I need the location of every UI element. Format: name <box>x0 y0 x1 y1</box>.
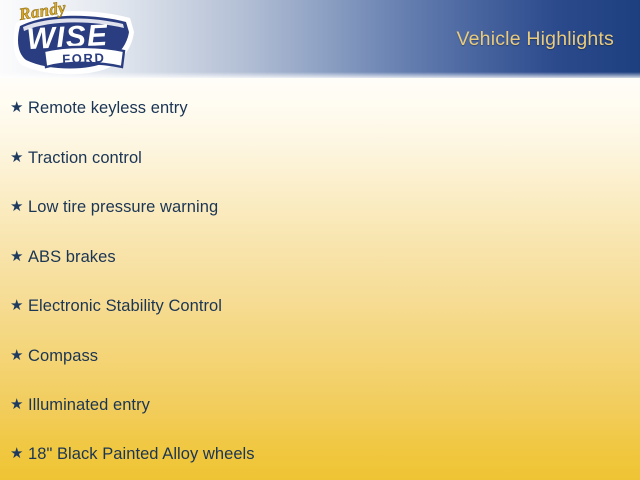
star-bullet-icon: ★ <box>10 249 28 264</box>
star-bullet-icon: ★ <box>10 298 28 313</box>
list-item: ★ Remote keyless entry <box>10 96 188 120</box>
list-item: ★ ABS brakes <box>10 245 116 269</box>
list-item-label: Remote keyless entry <box>28 99 188 118</box>
list-item-label: Illuminated entry <box>28 396 150 415</box>
list-item: ★ Traction control <box>10 146 142 170</box>
vehicle-highlights-page: WISE FORD Randy Vehicle Highlights ★ Rem… <box>0 0 640 480</box>
list-item-label: ABS brakes <box>28 248 116 267</box>
list-item: ★ Compass <box>10 344 98 368</box>
vehicle-highlights-panel: ★ Remote keyless entry ★ Traction contro… <box>0 78 640 480</box>
list-item-label: Traction control <box>28 149 142 168</box>
page-title: Vehicle Highlights <box>456 28 614 51</box>
list-item: ★ Low tire pressure warning <box>10 195 218 219</box>
list-item: ★ Illuminated entry <box>10 393 150 417</box>
page-header: WISE FORD Randy Vehicle Highlights <box>0 0 640 78</box>
list-item: ★ 18" Black Painted Alloy wheels <box>10 442 255 466</box>
list-item-label: Compass <box>28 347 98 366</box>
list-item-label: Electronic Stability Control <box>28 297 222 316</box>
randy-wise-ford-logo-icon: WISE FORD Randy <box>6 1 138 79</box>
dealer-logo[interactable]: WISE FORD Randy <box>6 1 138 79</box>
list-item: ★ Electronic Stability Control <box>10 294 222 318</box>
list-item-label: Low tire pressure warning <box>28 198 218 217</box>
star-bullet-icon: ★ <box>10 199 28 214</box>
svg-text:FORD: FORD <box>62 50 106 66</box>
star-bullet-icon: ★ <box>10 100 28 115</box>
star-bullet-icon: ★ <box>10 150 28 165</box>
star-bullet-icon: ★ <box>10 397 28 412</box>
list-item-label: 18" Black Painted Alloy wheels <box>28 445 255 464</box>
star-bullet-icon: ★ <box>10 446 28 461</box>
star-bullet-icon: ★ <box>10 348 28 363</box>
